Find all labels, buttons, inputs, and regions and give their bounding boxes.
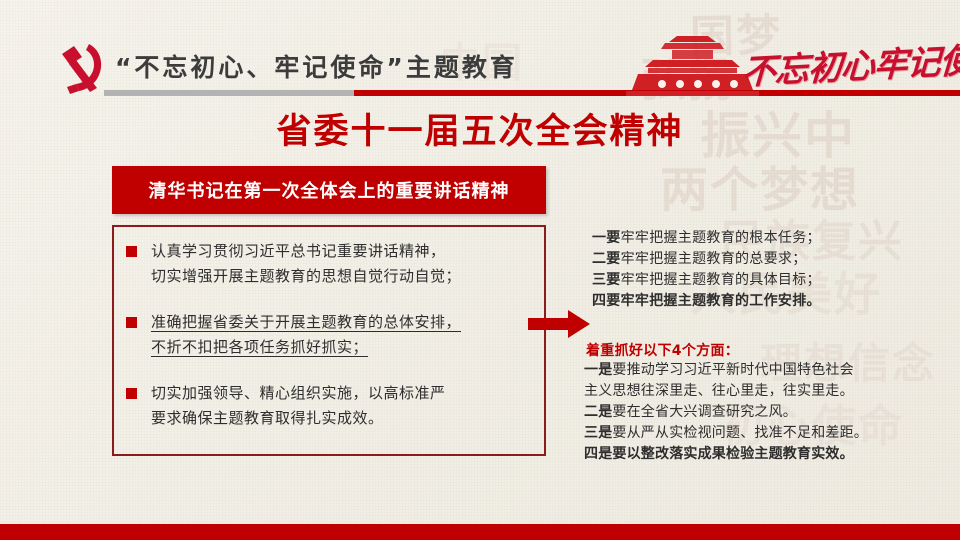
list-item: 一要牢牢把握主题教育的根本任务；	[592, 228, 912, 249]
item-text: 牢牢把握主题教育的具体目标；	[621, 272, 821, 288]
item-number: 四要	[592, 293, 621, 309]
bullet-line: 准确把握省委关于开展主题教育的总体安排，	[151, 313, 461, 331]
item-number: 四是	[584, 446, 612, 462]
footer-bar	[0, 524, 960, 540]
item-number: 一是	[584, 362, 612, 378]
bullet-list: 认真学习贯彻习近平总书记重要讲话精神， 切实增强开展主题教育的思想自觉行动自觉；…	[126, 239, 536, 431]
calligraphy-slogan: 不忘初心牢记使命	[741, 31, 960, 94]
page-title: 省委十一届五次全会精神	[0, 103, 960, 154]
bullet-line: 切实增强开展主题教育的思想自觉行动自觉；	[151, 267, 461, 285]
item-number: 二要	[592, 251, 621, 267]
background-watermark: 两个梦想	[660, 150, 860, 220]
list-item: 三要牢牢把握主题教育的具体目标；	[592, 270, 912, 291]
header-title: “不忘初心、牢记使命”主题教育	[115, 48, 518, 84]
item-number: 三要	[592, 272, 621, 288]
bullet-line: 要求确保主题教育取得扎实成效。	[151, 409, 384, 427]
bullet-line: 不折不扣把各项任务抓好抓实；	[151, 338, 368, 356]
list-item: 四是要以整改落实成果检验主题教育实效。	[584, 444, 914, 465]
bullet-text: 切实加强领导、精心组织实施，以高标准严 要求确保主题教育取得扎实成效。	[151, 381, 446, 431]
bullet-text: 认真学习贯彻习近平总书记重要讲话精神， 切实增强开展主题教育的思想自觉行动自觉；	[151, 239, 461, 289]
party-emblem-icon	[48, 40, 110, 98]
item-number: 一要	[592, 230, 621, 246]
bullet-text: 准确把握省委关于开展主题教育的总体安排， 不折不扣把各项任务抓好抓实；	[151, 310, 461, 360]
list-item: 二是要在全省大兴调查研究之风。	[584, 402, 914, 423]
item-text: 牢牢把握主题教育的工作安排。	[621, 293, 821, 309]
item-text: 要以整改落实成果检验主题教育实效。	[612, 446, 853, 462]
bullet-line: 认真学习贯彻习近平总书记重要讲话精神，	[151, 242, 446, 260]
requirements-list: 一要牢牢把握主题教育的根本任务； 二要牢牢把握主题教育的总要求； 三要牢牢把握主…	[592, 228, 912, 312]
item-text: 牢牢把握主题教育的总要求；	[621, 251, 807, 267]
item-text-continued: 主义思想往深里走、往心里走，往实里走。	[584, 383, 854, 399]
list-item: 认真学习贯彻习近平总书记重要讲话精神， 切实增强开展主题教育的思想自觉行动自觉；	[126, 239, 536, 289]
item-text: 要从严从实检视问题、找准不足和差距。	[612, 425, 868, 441]
right-arrow-icon	[528, 310, 590, 338]
item-number: 三是	[584, 425, 612, 441]
slide-canvas: 国梦 弘扬 振兴中 两个梦想 民族复兴 人民美好 理想信念 初心使命 中国 “不…	[0, 0, 960, 540]
list-item: 三是要从严从实检视问题、找准不足和差距。	[584, 423, 914, 444]
focus-heading: 着重抓好以下4个方面：	[586, 340, 739, 360]
list-item: 四要牢牢把握主题教育的工作安排。	[592, 291, 912, 312]
bullet-line: 切实加强领导、精心组织实施，以高标准严	[151, 384, 446, 402]
header-rule-gray	[104, 90, 354, 96]
list-item: 切实加强领导、精心组织实施，以高标准严 要求确保主题教育取得扎实成效。	[126, 381, 536, 431]
square-bullet-icon	[126, 317, 137, 328]
item-number: 二是	[584, 404, 612, 420]
item-text: 要在全省大兴调查研究之风。	[612, 404, 797, 420]
list-item: 一是要推动学习习近平新时代中国特色社会 主义思想往深里走、往心里走，往实里走。	[584, 360, 914, 402]
square-bullet-icon	[126, 388, 137, 399]
list-item: 准确把握省委关于开展主题教育的总体安排， 不折不扣把各项任务抓好抓实；	[126, 310, 536, 360]
square-bullet-icon	[126, 246, 137, 257]
focus-list: 一是要推动学习习近平新时代中国特色社会 主义思想往深里走、往心里走，往实里走。 …	[584, 360, 914, 465]
section-banner: 清华书记在第一次全体会上的重要讲话精神	[112, 166, 546, 214]
item-text: 牢牢把握主题教育的根本任务；	[621, 230, 821, 246]
list-item: 二要牢牢把握主题教育的总要求；	[592, 249, 912, 270]
item-text: 要推动学习习近平新时代中国特色社会	[612, 362, 853, 378]
